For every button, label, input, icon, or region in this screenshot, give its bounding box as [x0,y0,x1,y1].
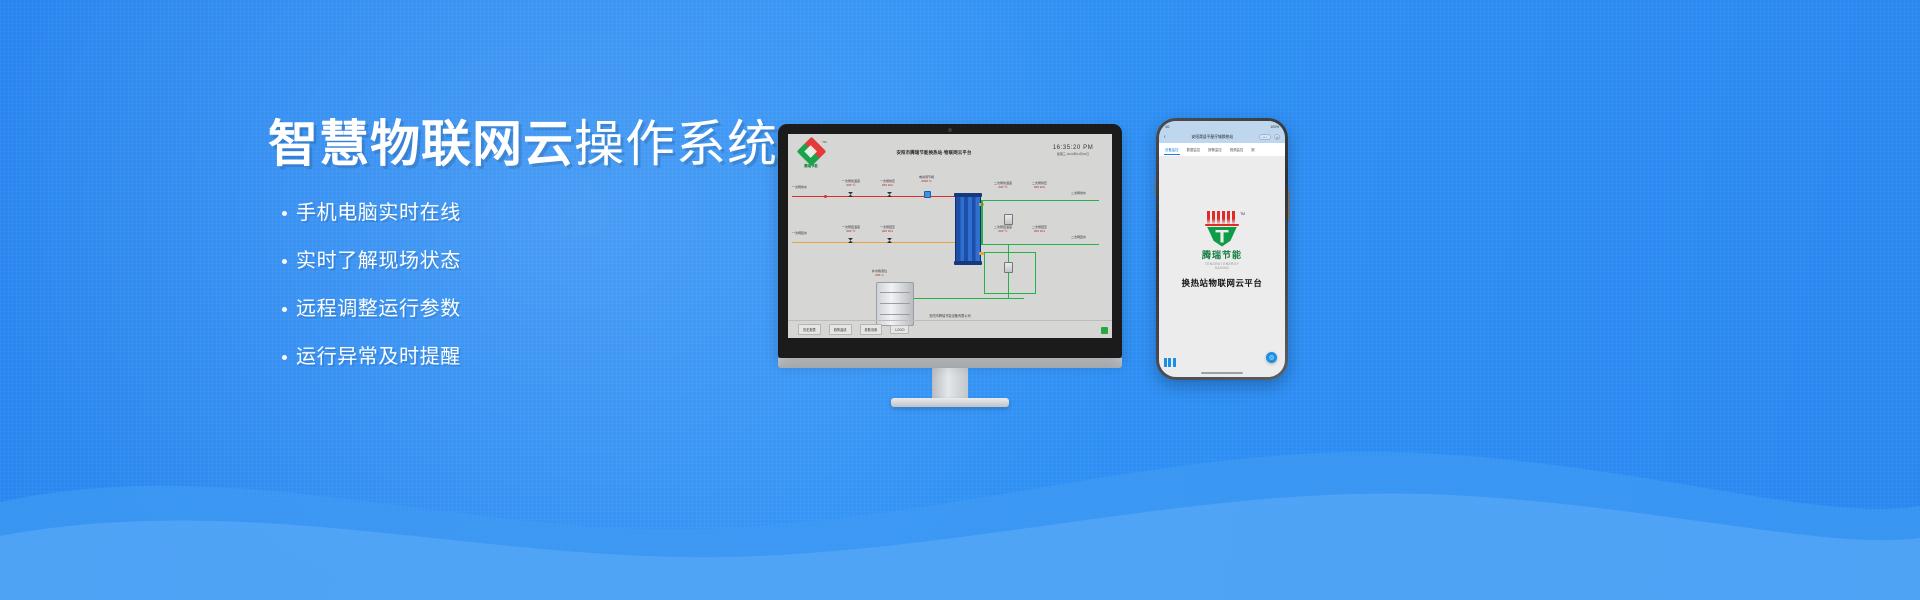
trademark-label: TM [1240,212,1245,216]
close-icon[interactable]: ⊙ [1274,134,1280,140]
headline-light: 操作系统 [574,116,778,172]
pipe-primary-return [792,242,955,243]
tab-data-monitor[interactable]: 数据监控 [1183,143,1205,156]
phone-frame: 4G 100% ‹ 安阳滑县平屋仔城换热站 ••• ⊙ 设备监控 数据监控 报警… [1156,118,1288,380]
plant-schematic: 一次网供水 一次侧供温度### ℃ 一次侧供压### kPa 电动调节阀####… [788,174,1112,320]
phone-screen: 4G 100% ‹ 安阳滑县平屋仔城换热站 ••• ⊙ 设备监控 数据监控 报警… [1159,121,1285,377]
list-item-label: 远程调整运行参数 [296,299,461,319]
promo-banner: 智慧物联网云操作系统 手机电脑实时在线 实时了解现场状态 远程调整运行参数 运行… [0,0,1920,600]
status-battery-label: 100% [1270,125,1279,129]
control-valve-icon [924,191,931,198]
valve-icon [848,238,853,243]
schematic-label: 一次网供水 [792,186,807,190]
screen-logo: TM 腾瑞节能 [796,141,826,168]
tab-alarm-monitor[interactable]: 报警监控 [1204,143,1226,156]
schematic-label: 一次侧回温度### ℃ [842,226,860,234]
screen-title-wrap: 安阳市腾瑞节能换热站·物联网云平台 [826,141,1042,156]
schematic-label: 二次侧回温度### ℃ [994,226,1012,234]
list-item-label: 实时了解现场状态 [296,251,461,271]
circulation-pump [1004,214,1013,225]
monitor-stand-neck [932,368,968,398]
brand-logo-icon: TM [1200,211,1244,247]
company-logo-icon: TM [801,141,822,162]
screen-footer-toolbar: 历史报表 趋势曲线 参数设置 LOGO [788,320,1112,338]
trend-button[interactable]: 趋势曲线 [829,324,852,334]
status-signal-label: 4G [1165,125,1170,129]
screen-clock: 16:35:20 PM 星期三 2020年04月03日 [1042,141,1104,156]
schematic-label: 二次侧回压### kPa [1032,226,1047,234]
phone-content: TM 腾瑞节能 TENGRUI ENERGY SAVING 换热站物联网云平台 … [1159,156,1285,377]
bullet-dot-icon [282,259,287,264]
feature-list: 手机电脑实时在线 实时了解现场状态 远程调整运行参数 运行异常及时提醒 [268,203,788,367]
phone-status-bar: 4G 100% [1159,121,1285,132]
side-dock-indicator [1164,358,1176,367]
heat-exchanger [955,194,981,264]
list-item-label: 手机电脑实时在线 [296,203,461,223]
pipe-node [824,195,827,198]
platform-title: 换热站物联网云平台 [1182,277,1263,289]
makeup-pump [1004,262,1013,273]
valve-icon [848,192,853,197]
headline-block: 智慧物联网云操作系统 手机电脑实时在线 实时了解现场状态 远程调整运行参数 运行… [268,118,788,395]
monitor-stand-base [891,398,1009,407]
headline-strong: 智慧物联网云 [268,116,574,172]
valve-icon [887,192,892,197]
schematic-label: 二次侧供温度### ℃ [994,182,1012,190]
webcam-icon [948,128,952,132]
clock-time: 16:35:20 PM [1042,145,1104,151]
pipe-secondary-return [981,244,1099,245]
schematic-label: 二次网供水 [1071,192,1086,196]
schematic-label: 一次网回水 [792,232,807,236]
monitor-bezel: TM 腾瑞节能 安阳市腾瑞节能换热站·物联网云平台 16:35:20 PM 星期… [778,124,1122,358]
schematic-label: 二次网回水 [1071,236,1086,240]
schematic-label: 一次侧供温度### ℃ [842,180,860,188]
phone-tab-bar: 设备监控 数据监控 报警监控 视频监控 报 [1159,143,1285,156]
status-indicator [1101,327,1108,334]
secondary-loop-box [984,252,1036,294]
clock-date: 星期三 2020年04月03日 [1042,152,1104,156]
home-indicator [1201,372,1243,374]
schematic-label: 一次侧回压### kPa [880,226,895,234]
pipe-makeup [914,298,1024,299]
tab-device-monitor[interactable]: 设备监控 [1161,143,1183,156]
schematic-label: 一次侧供压### kPa [880,180,895,188]
screen-company-footer: 安阳市腾瑞节能设备有限公司 [788,313,1112,318]
list-item: 运行异常及时提醒 [282,347,788,367]
list-item: 远程调整运行参数 [282,299,788,319]
schematic-label: 补水箱液位### m [872,270,887,278]
tab-video-monitor[interactable]: 视频监控 [1226,143,1248,156]
schematic-label: 二次侧供压### kPa [1032,182,1047,190]
chat-icon[interactable]: ◎ [1266,352,1277,363]
bullet-dot-icon [282,355,287,360]
bullet-dot-icon [282,211,287,216]
chevron-left-icon[interactable]: ‹ [1164,135,1166,140]
logo-button[interactable]: LOGO [890,325,909,334]
schematic-label: 电动调节阀#### % [919,176,934,184]
brand-name-en: TENGRUI ENERGY SAVING [1200,262,1244,270]
wave-decoration [0,410,1920,600]
valve-icon [887,238,892,243]
nav-title: 安阳滑县平屋仔城换热站 [1169,135,1256,140]
brand-logo: TM 腾瑞节能 TENGRUI ENERGY SAVING [1200,211,1244,270]
loop-connector [981,200,983,244]
list-item: 实时了解现场状态 [282,251,788,271]
smartphone-mockup: 4G 100% ‹ 安阳滑县平屋仔城换热站 ••• ⊙ 设备监控 数据监控 报警… [1156,118,1288,380]
more-icon[interactable]: ••• [1259,134,1271,140]
page-title: 智慧物联网云操作系统 [268,118,788,171]
list-item: 手机电脑实时在线 [282,203,788,223]
pipe-secondary-supply [981,200,1099,201]
phone-nav-bar: ‹ 安阳滑县平屋仔城换热站 ••• ⊙ [1159,132,1285,143]
desktop-monitor-mockup: TM 腾瑞节能 安阳市腾瑞节能换热站·物联网云平台 16:35:20 PM 星期… [778,124,1122,407]
mini-program-capsule: ••• ⊙ [1259,134,1280,140]
monitor-screen: TM 腾瑞节能 安阳市腾瑞节能换热站·物联网云平台 16:35:20 PM 星期… [788,134,1112,338]
report-button[interactable]: 历史报表 [798,324,821,334]
monitor-chin [778,358,1122,368]
brand-name: 腾瑞节能 [1200,248,1244,261]
logo-tm-label: TM [822,140,826,144]
list-item-label: 运行异常及时提醒 [296,347,461,367]
bullet-dot-icon [282,307,287,312]
screen-header: TM 腾瑞节能 安阳市腾瑞节能换热站·物联网云平台 16:35:20 PM 星期… [788,134,1112,168]
screen-title: 安阳市腾瑞节能换热站·物联网云平台 [826,150,1042,156]
settings-button[interactable]: 参数设置 [860,324,883,334]
tab-more[interactable]: 报 [1247,143,1258,156]
